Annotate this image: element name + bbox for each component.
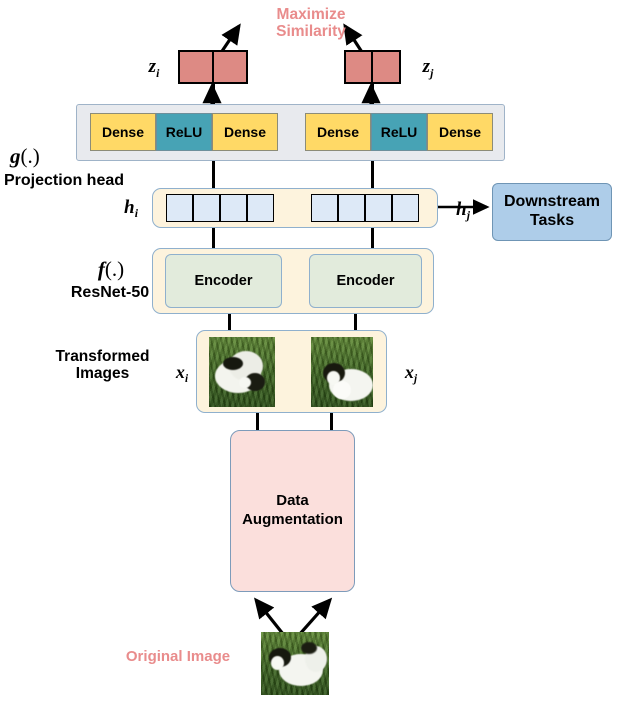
projection-head-caption: Projection head	[4, 170, 150, 192]
encoder-block-j: Encoder	[309, 254, 422, 308]
h-i-cell-3	[220, 194, 247, 222]
dog-muzzle-i	[239, 377, 251, 388]
h-j-cell-4	[392, 194, 419, 222]
z-j-symbol: z	[423, 56, 430, 78]
embedding-z-j-label: zj	[408, 52, 448, 82]
h-i-cell-4	[247, 194, 274, 222]
x-j-subscript: j	[414, 373, 417, 385]
encoder-caption: ResNet-50	[60, 282, 160, 304]
projection-head-function-symbol: g(.)	[10, 143, 72, 169]
maximize-similarity-label: Maximize Similarity	[236, 0, 386, 46]
x-j-symbol: x	[405, 362, 414, 383]
downstream-tasks-box[interactable]: Downstream Tasks	[492, 183, 612, 241]
h-i-subscript: i	[135, 207, 138, 221]
projhead-j-dense-2: Dense	[427, 113, 493, 151]
data-augmentation-box[interactable]: Data Augmentation	[230, 430, 355, 592]
projhead-i-dense-1: Dense	[90, 113, 156, 151]
h-i-cell-2	[193, 194, 220, 222]
z-j-divider	[371, 50, 373, 84]
representation-h-i-label: hi	[112, 194, 150, 222]
h-j-subscript: j	[467, 209, 470, 223]
h-j-cell-2	[338, 194, 365, 222]
encoder-function-symbol: f(.)	[80, 256, 142, 282]
transformed-image-x-j-label: xj	[395, 358, 427, 386]
embedding-z-i-label: zi	[134, 52, 174, 82]
h-j-symbol: h	[456, 199, 467, 221]
x-i-subscript: i	[185, 373, 188, 385]
h-i-cell-1	[166, 194, 193, 222]
original-dog-dark-back	[301, 642, 317, 654]
transformed-images-caption: Transformed Images	[40, 342, 165, 388]
transformed-image-x-i-label: xi	[166, 358, 198, 386]
original-image-label: Original Image	[108, 645, 248, 669]
dog-chest-j	[333, 381, 351, 399]
f-symbol: f	[98, 257, 105, 282]
g-arg: (.)	[21, 144, 40, 169]
projhead-j-dense-1: Dense	[305, 113, 371, 151]
encoder-block-i: Encoder	[165, 254, 282, 308]
representation-h-j-label: hj	[444, 196, 482, 224]
x-i-symbol: x	[176, 362, 185, 383]
original-dog-face	[271, 656, 284, 670]
projhead-i-dense-2: Dense	[212, 113, 278, 151]
z-i-subscript: i	[156, 67, 159, 81]
projhead-i-relu: ReLU	[156, 113, 212, 151]
dog-dark-patch-i	[223, 357, 243, 370]
g-symbol: g	[10, 144, 21, 169]
projhead-j-relu: ReLU	[371, 113, 427, 151]
h-j-cell-3	[365, 194, 392, 222]
z-j-subscript: j	[430, 67, 433, 81]
f-arg: (.)	[105, 257, 124, 282]
h-j-cell-1	[311, 194, 338, 222]
transformed-image-i	[209, 337, 275, 407]
diagram-canvas: Maximize Similarity zi zj Dense ReLU Den…	[0, 0, 622, 701]
h-i-symbol: h	[124, 197, 135, 219]
transformed-image-j	[311, 337, 373, 407]
z-i-divider	[212, 50, 214, 84]
z-i-symbol: z	[149, 56, 156, 78]
original-image	[261, 632, 329, 695]
